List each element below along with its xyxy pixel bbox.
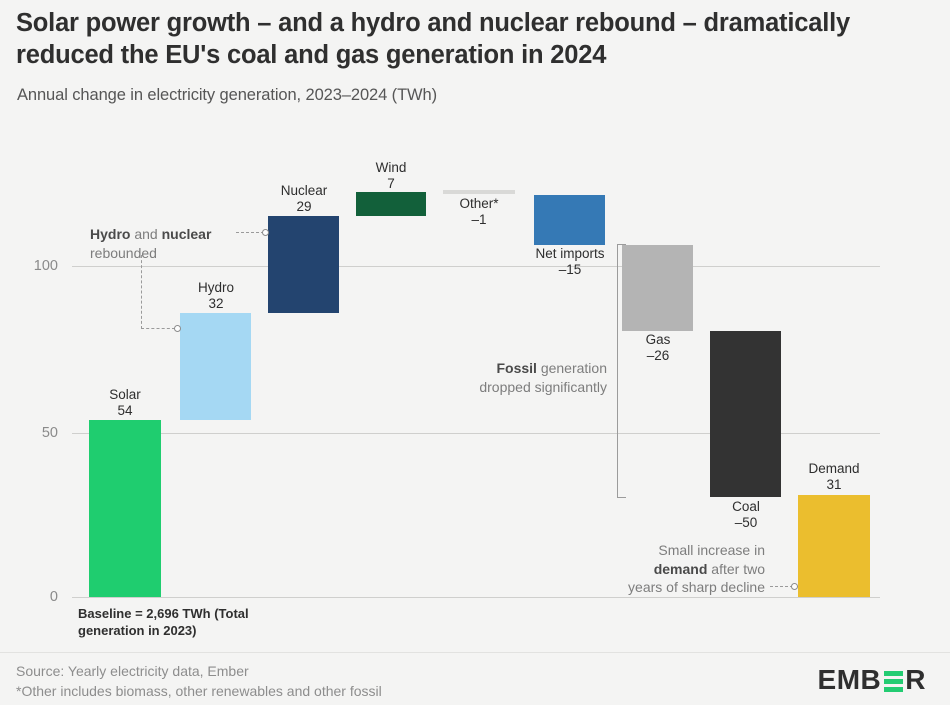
annotation-hydro-nuclear-mid: and: [130, 226, 161, 242]
annotation-fossil-line2: dropped significantly: [479, 379, 607, 395]
bar-coal[interactable]: [710, 331, 781, 497]
bar-gas[interactable]: [622, 245, 693, 331]
annotation-hydro-nuclear-line2: rebounded: [90, 245, 157, 261]
bar-hydro[interactable]: [180, 313, 251, 420]
plot-area: 100 50 0 Solar 54 Hydro 32 Nuclear 29 Wi…: [0, 0, 950, 705]
ytick-label-50: 50: [14, 425, 58, 441]
bar-label-hydro-name: Hydro: [198, 280, 234, 295]
baseline-note-line1: Baseline = 2,696 TWh (Total: [78, 606, 249, 621]
chart-root: Solar power growth – and a hydro and nuc…: [0, 0, 950, 705]
leader-dot-demand: [791, 583, 798, 590]
annotation-demand-bold: demand: [654, 561, 708, 577]
bar-label-solar-value: 54: [117, 403, 132, 418]
bracket-fossil: [617, 244, 626, 498]
baseline-note: Baseline = 2,696 TWh (Total generation i…: [78, 606, 249, 639]
annotation-fossil: Fossil generation dropped significantly: [385, 359, 607, 396]
bar-label-solar: Solar 54: [69, 387, 181, 420]
bar-label-wind-name: Wind: [376, 160, 407, 175]
bar-label-nuclear-name: Nuclear: [281, 183, 328, 198]
bar-label-demand-value: 31: [826, 477, 841, 492]
bar-label-other-value: –1: [471, 212, 486, 227]
gridline-0: [72, 597, 880, 598]
ember-logo-text-right: R: [905, 664, 926, 696]
ember-logo-text-left: EMB: [818, 664, 882, 696]
annotation-hydro-nuclear: Hydro and nuclear rebounded: [90, 225, 280, 262]
bar-label-other: Other* –1: [423, 196, 535, 229]
baseline-note-line2: generation in 2023): [78, 623, 196, 638]
annotation-fossil-bold: Fossil: [496, 360, 536, 376]
source-note: Source: Yearly electricity data, Ember *…: [16, 662, 382, 701]
bar-label-nuclear-value: 29: [296, 199, 311, 214]
leader-line-hydro-horizontal: [141, 328, 175, 329]
bar-label-hydro-value: 32: [208, 296, 223, 311]
leader-dot-nuclear: [262, 229, 269, 236]
bar-label-net-imports-value: –15: [559, 262, 582, 277]
bar-label-solar-name: Solar: [109, 387, 141, 402]
ember-logo-e-icon: [884, 671, 903, 692]
ember-logo: EMB R: [818, 664, 926, 696]
bar-label-net-imports-name: Net imports: [535, 246, 604, 261]
source-note-line1: Source: Yearly electricity data, Ember: [16, 663, 249, 679]
bar-label-hydro: Hydro 32: [160, 280, 272, 313]
ytick-label-100: 100: [14, 258, 58, 274]
bar-label-wind: Wind 7: [335, 160, 447, 193]
bar-label-coal-name: Coal: [732, 499, 760, 514]
annotation-hydro-nuclear-bold-nuclear: nuclear: [162, 226, 212, 242]
annotation-fossil-rest: generation: [537, 360, 607, 376]
bar-label-other-name: Other*: [459, 196, 498, 211]
bar-label-wind-value: 7: [387, 176, 395, 191]
bar-label-demand: Demand 31: [778, 461, 890, 494]
annotation-demand-line2-rest: after two: [707, 561, 765, 577]
ytick-label-0: 0: [14, 589, 58, 605]
footer-divider: [0, 652, 950, 653]
leader-dot-hydro: [174, 325, 181, 332]
bar-label-gas-name: Gas: [646, 332, 671, 347]
bar-label-demand-name: Demand: [808, 461, 859, 476]
annotation-demand: Small increase in demand after two years…: [560, 541, 765, 597]
source-note-line2: *Other includes biomass, other renewable…: [16, 683, 382, 699]
bar-label-net-imports: Net imports –15: [514, 246, 626, 279]
leader-line-nuclear: [236, 232, 264, 233]
annotation-demand-line3: years of sharp decline: [628, 579, 765, 595]
bar-wind[interactable]: [356, 192, 426, 216]
bar-label-coal-value: –50: [735, 515, 758, 530]
leader-line-hydro-vertical: [141, 255, 142, 329]
gridline-100: [72, 266, 880, 267]
annotation-hydro-nuclear-bold-hydro: Hydro: [90, 226, 130, 242]
bar-label-coal: Coal –50: [690, 499, 802, 532]
bar-demand[interactable]: [798, 495, 870, 597]
bar-solar[interactable]: [89, 420, 161, 597]
leader-line-demand: [770, 586, 793, 587]
bar-net-imports[interactable]: [534, 195, 605, 245]
annotation-demand-line1: Small increase in: [658, 542, 765, 558]
bar-other[interactable]: [443, 190, 515, 194]
bar-label-gas-value: –26: [647, 348, 670, 363]
